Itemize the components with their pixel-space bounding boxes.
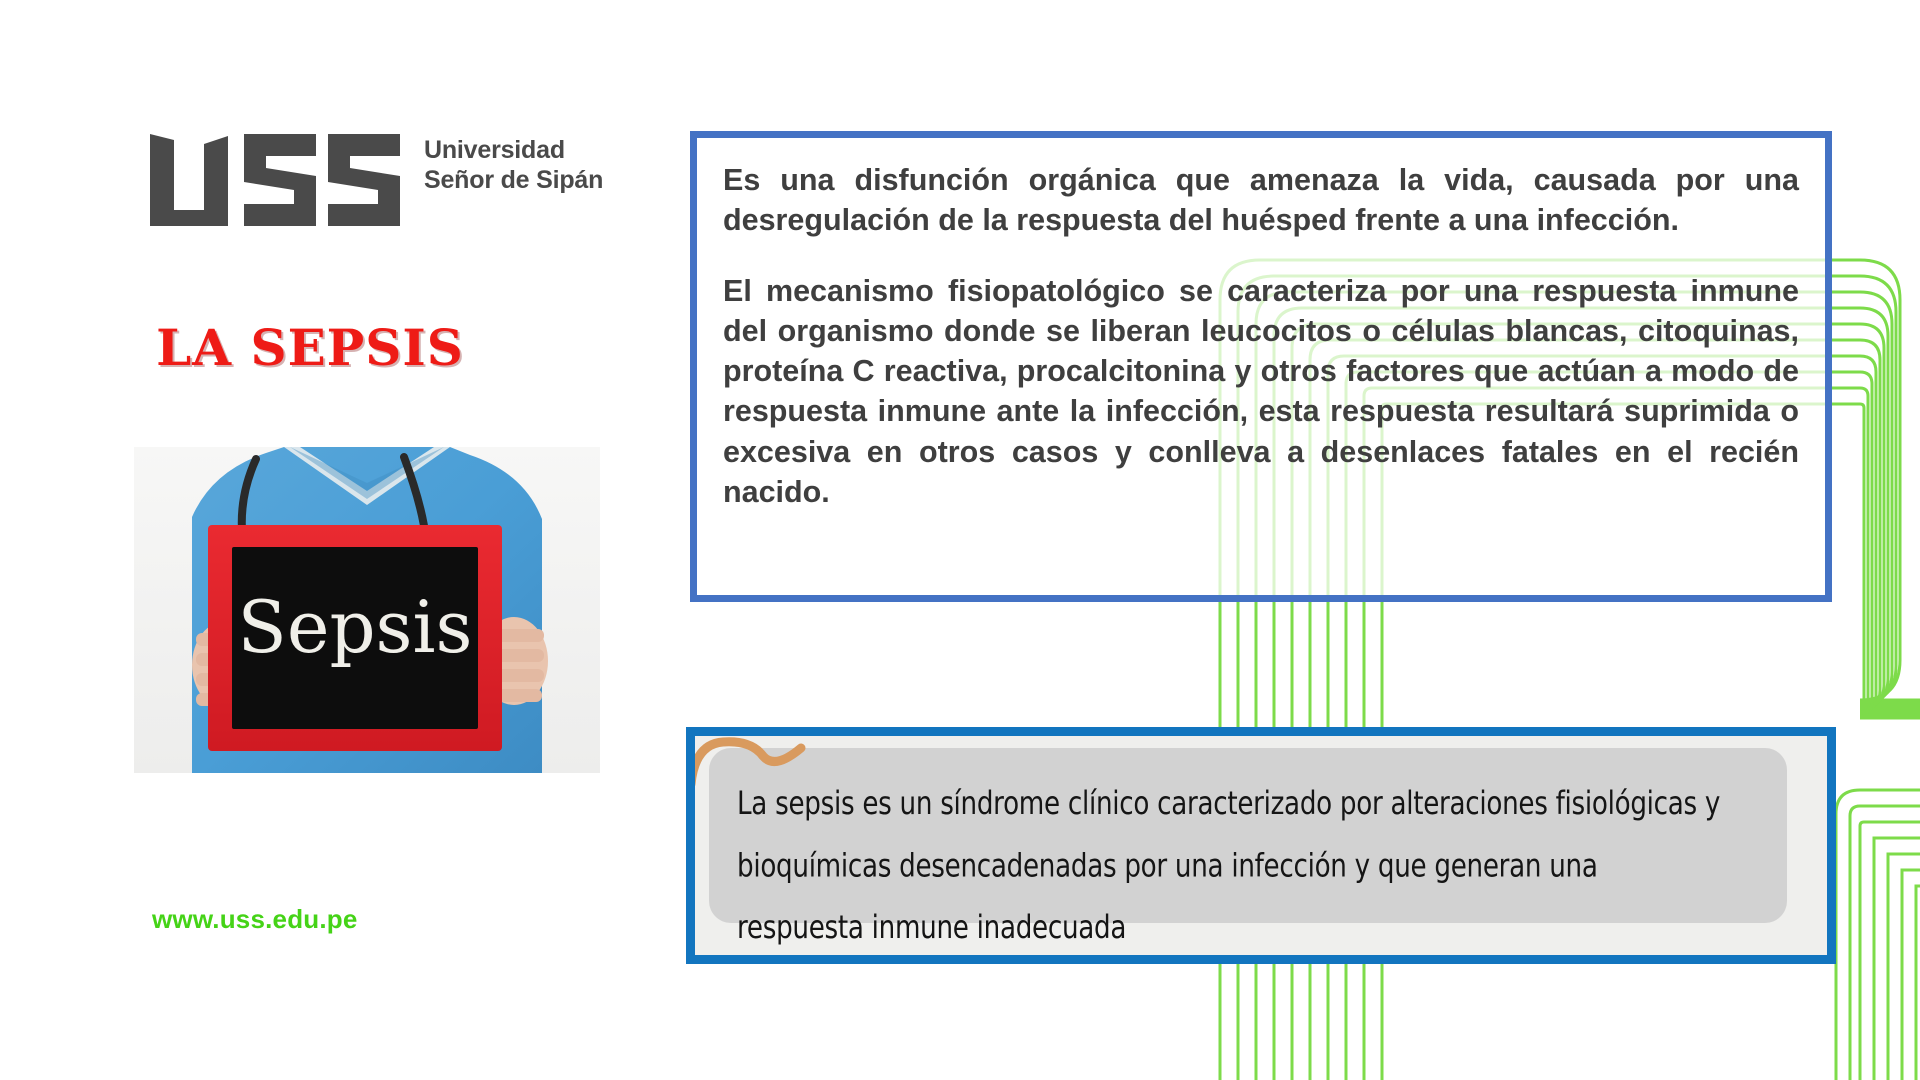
uss-monogram-icon [148, 130, 406, 238]
website-url[interactable]: www.uss.edu.pe [152, 904, 358, 935]
brand-logo-block: Universidad Señor de Sipán [148, 130, 603, 238]
left-column: Universidad Señor de Sipán LA SEPSIS [0, 0, 660, 1080]
nurse-holding-sepsis-chalkboard-photo: Sepsis [134, 447, 600, 773]
svg-text:Sepsis: Sepsis [238, 585, 473, 669]
definition-paragraph-1: Es una disfunción orgánica que amenaza l… [723, 160, 1799, 241]
page-title: LA SEPSIS [0, 318, 620, 377]
university-name: Universidad Señor de Sipán [424, 136, 603, 195]
definition-text-box: Es una disfunción orgánica que amenaza l… [690, 131, 1832, 602]
orange-swoosh-icon [689, 730, 819, 790]
slide-canvas: Universidad Señor de Sipán LA SEPSIS [0, 0, 1920, 1080]
definition-paragraph-2: El mecanismo fisiopatológico se caracter… [723, 271, 1799, 553]
quote-bubble: La sepsis es un síndrome clínico caracte… [709, 748, 1787, 923]
quote-text: La sepsis es un síndrome clínico caracte… [737, 774, 1728, 960]
quote-callout-box: La sepsis es un síndrome clínico caracte… [686, 727, 1836, 964]
